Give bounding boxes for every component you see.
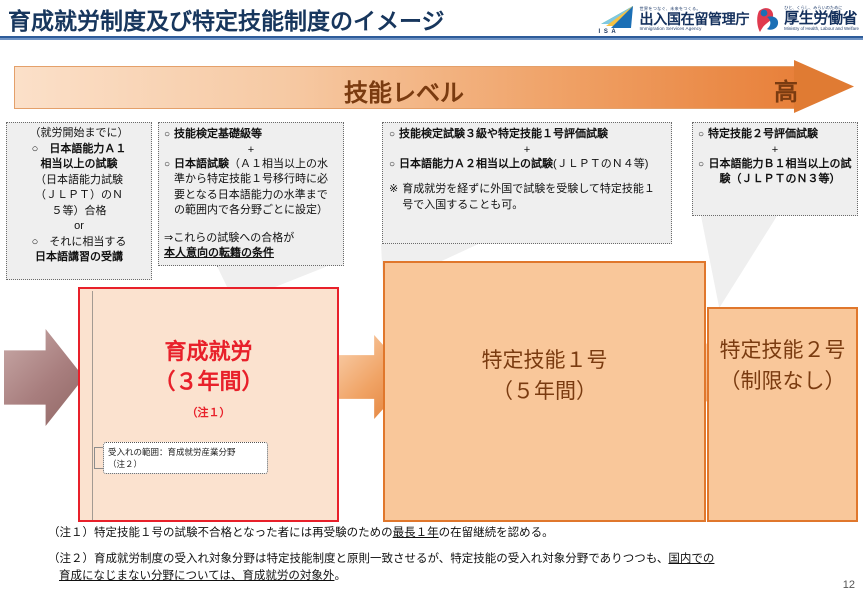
stage-tokutei1-title-line1: 特定技能１号 bbox=[385, 345, 704, 376]
callout1-line-5: ５等）合格 bbox=[11, 204, 147, 220]
stage-tokutei1-title-line2: （５年間） bbox=[385, 376, 704, 407]
stage-ikusei-title-line2: （３年間） bbox=[80, 367, 337, 397]
callout2-item2-body: 日本語試験（Ａ１相当以上の水準から特定技能１号移行時に必要となる日本語能力の水準… bbox=[174, 157, 338, 219]
callout2-item1-label: 技能検定基礎級等 bbox=[174, 127, 262, 143]
stage-ikusei-shuro: 育成就労 （３年間） （注１） 受入れの範囲：育成就労産業分野 （注２） bbox=[78, 287, 339, 522]
isa-abbreviation: I S A bbox=[599, 29, 617, 35]
stage-tokutei2-title-line1: 特定技能２号 bbox=[709, 335, 856, 366]
footnotes: （注１）特定技能１号の試験不合格となった者には再受験のための最長１年の在留継続を… bbox=[48, 525, 848, 594]
callout2-item2-bold: 日本語試験 bbox=[174, 158, 229, 170]
callout1-line-1: ○ 日本語能力Ａ１ bbox=[11, 142, 147, 158]
callout1-line-0: （就労開始までに） bbox=[11, 126, 147, 142]
callout2-conclusion-emphasis: 本人意向の転籍の条件 bbox=[164, 246, 338, 262]
scope-line-2: （注２） bbox=[108, 458, 263, 470]
callout3-item2-bold: 日本語能力Ａ２相当以上の試験 bbox=[399, 158, 553, 170]
stage-tokutei-ginou-1: 特定技能１号 （５年間） bbox=[383, 261, 706, 522]
callout4-tail bbox=[701, 216, 777, 308]
banner-label: 技能レベル bbox=[344, 73, 464, 108]
footnote-1-head: （注１） bbox=[48, 527, 94, 539]
skill-level-banner: 技能レベル 高 bbox=[14, 60, 854, 113]
logo-group: I S A 世界をつなぐ、未来をつくる。 出入国在留管理庁 Immigratio… bbox=[597, 2, 859, 36]
callout2-spacer bbox=[164, 219, 338, 231]
bullet-circle-icon: ○ bbox=[698, 127, 704, 143]
callout2-item-1: ○ 技能検定基礎級等 bbox=[164, 127, 338, 143]
footnote-1-underline: 最長１年 bbox=[393, 527, 439, 539]
callout1-line-6: or bbox=[11, 219, 147, 235]
callout3-note-text: 育成就労を経ずに外国で試験を受験して特定技能１号で入国することも可。 bbox=[402, 182, 665, 213]
callout1-line-4: （ＪＬＰＴ）のＮ bbox=[11, 188, 147, 204]
callout3-item2-rest: (ＪＬＰＴのＮ４等) bbox=[553, 158, 648, 170]
stage-tokutei2-title-line2: （制限なし） bbox=[709, 366, 856, 397]
isa-logo: I S A 世界をつなぐ、未来をつくる。 出入国在留管理庁 Immigratio… bbox=[597, 4, 750, 34]
callout-japanese-ability-a1: （就労開始までに） ○ 日本語能力Ａ１ 相当以上の試験 （日本語能力試験 （ＪＬ… bbox=[6, 122, 152, 280]
footnote-1: （注１）特定技能１号の試験不合格となった者には再受験のための最長１年の在留継続を… bbox=[48, 525, 848, 542]
isa-text-block: 世界をつなぐ、未来をつくる。 出入国在留管理庁 Immigration Serv… bbox=[640, 7, 750, 32]
footnote-2-line-2: 育成になじまない分野については、育成就労の対象外。 bbox=[48, 568, 848, 585]
callout4-plus: + bbox=[698, 143, 852, 157]
footnote-2: （注２）育成就労制度の受入れ対象分野は特定技能制度と原則一致させるが、特定技能の… bbox=[48, 551, 848, 585]
bullet-circle-icon: ○ bbox=[164, 127, 170, 143]
note-mark-icon: ※ bbox=[389, 182, 398, 198]
footnote-1-text-a: 特定技能１号の試験不合格となった者には再受験のための bbox=[94, 527, 393, 539]
footnote-2-text-a: 育成就労制度の受入れ対象分野は特定技能制度と原則一致させるが、特定技能の受入れ対… bbox=[94, 553, 668, 565]
callout-transfer-conditions: ○ 技能検定基礎級等 + ○ 日本語試験（Ａ１相当以上の水準から特定技能１号移行… bbox=[158, 122, 344, 266]
callout-tokutei2-requirements: ○ 特定技能２号評価試験 + ○ 日本語能力Ｂ１相当以上の試験（ＪＬＰＴのＮ３等… bbox=[692, 122, 858, 216]
footnote-2-head: （注２） bbox=[48, 553, 94, 565]
mhlw-text-block: ひと、くらし、みらいのために 厚生労働省 Ministry of Health,… bbox=[784, 6, 859, 32]
callout2-conclusion-lead: ⇒これらの試験への合格が bbox=[164, 231, 338, 247]
callout2-item-2: ○ 日本語試験（Ａ１相当以上の水準から特定技能１号移行時に必要となる日本語能力の… bbox=[164, 157, 338, 219]
callout4-item-1: ○ 特定技能２号評価試験 bbox=[698, 127, 852, 143]
stage-tokutei2-title: 特定技能２号 （制限なし） bbox=[709, 335, 856, 397]
stage-tokutei-ginou-2: 特定技能２号 （制限なし） bbox=[707, 307, 858, 522]
footnote-2-underline-1: 国内での bbox=[668, 553, 714, 565]
callout1-line-8: 日本語講習の受講 bbox=[11, 250, 147, 266]
callout3-note: ※ 育成就労を経ずに外国で試験を受験して特定技能１号で入国することも可。 bbox=[389, 182, 665, 213]
bullet-circle-icon: ○ bbox=[389, 127, 395, 143]
callout-tokutei1-requirements: ○ 技能検定試験３級や特定技能１号評価試験 + ○ 日本語能力Ａ２相当以上の試験… bbox=[382, 122, 672, 244]
footnote-2-end: 。 bbox=[334, 570, 346, 582]
callout3-item-2: ○ 日本語能力Ａ２相当以上の試験(ＪＬＰＴのＮ４等) bbox=[389, 157, 665, 173]
footnote-2-underline-2: 育成になじまない分野については、育成就労の対象外 bbox=[59, 570, 334, 582]
banner-arrowhead-icon bbox=[794, 60, 854, 113]
footnote-1-text-b: の在留継続を認める。 bbox=[439, 527, 554, 539]
callout3-item1-label: 技能検定試験３級や特定技能１号評価試験 bbox=[399, 127, 608, 143]
slide-root: 育成就労制度及び特定技能制度のイメージ I S A 世界をつなぐ、未来をつくる。… bbox=[0, 0, 863, 595]
bullet-circle-icon: ○ bbox=[698, 157, 704, 173]
isa-name: 出入国在留管理庁 bbox=[640, 12, 750, 26]
mhlw-mark-icon bbox=[755, 5, 781, 33]
mhlw-subtitle: Ministry of Health, Labour and Welfare bbox=[784, 27, 859, 31]
callout4-item2-label: 日本語能力Ｂ１相当以上の試験（ＪＬＰＴのＮ３等） bbox=[708, 157, 852, 188]
stage-ikusei-note: （注１） bbox=[80, 398, 337, 428]
callout3-item-1: ○ 技能検定試験３級や特定技能１号評価試験 bbox=[389, 127, 665, 143]
isa-subtitle: Immigration Services Agency bbox=[640, 27, 750, 32]
callout1-line-2: 相当以上の試験 bbox=[11, 157, 147, 173]
page-number: 12 bbox=[843, 579, 855, 591]
banner-high-label: 高 bbox=[774, 72, 798, 107]
page-title: 育成就労制度及び特定技能制度のイメージ bbox=[8, 2, 445, 36]
callout1-line-3: （日本語能力試験 bbox=[11, 173, 147, 189]
callout4-item-2: ○ 日本語能力Ｂ１相当以上の試験（ＪＬＰＴのＮ３等） bbox=[698, 157, 852, 188]
isa-mark-icon: I S A bbox=[597, 4, 637, 34]
header-divider bbox=[0, 36, 863, 40]
callout2-plus: + bbox=[164, 143, 338, 157]
bullet-circle-icon: ○ bbox=[164, 157, 170, 173]
stage-ikusei-title-line1: 育成就労 bbox=[80, 337, 337, 367]
callout4-item1-label: 特定技能２号評価試験 bbox=[708, 127, 818, 143]
callout3-spacer bbox=[389, 172, 665, 182]
callout1-line-5-text: ５等）合格 bbox=[52, 205, 107, 217]
mhlw-logo: ひと、くらし、みらいのために 厚生労働省 Ministry of Health,… bbox=[755, 5, 859, 33]
slide-header: 育成就労制度及び特定技能制度のイメージ I S A 世界をつなぐ、未来をつくる。… bbox=[0, 0, 863, 40]
stage-ikusei-title: 育成就労 （３年間） （注１） bbox=[80, 337, 337, 428]
callout3-item2-body: 日本語能力Ａ２相当以上の試験(ＪＬＰＴのＮ４等) bbox=[399, 157, 648, 173]
stage-tokutei1-title: 特定技能１号 （５年間） bbox=[385, 345, 704, 407]
entry-arrow-icon bbox=[4, 329, 84, 426]
scope-line-1: 受入れの範囲：育成就労産業分野 bbox=[108, 446, 263, 458]
callout1-line-7: ○ それに相当する bbox=[11, 235, 147, 251]
scope-box: 受入れの範囲：育成就労産業分野 （注２） bbox=[103, 442, 268, 474]
callout3-plus: + bbox=[389, 143, 665, 157]
mhlw-name: 厚生労働省 bbox=[784, 11, 857, 26]
bullet-circle-icon: ○ bbox=[389, 157, 395, 173]
